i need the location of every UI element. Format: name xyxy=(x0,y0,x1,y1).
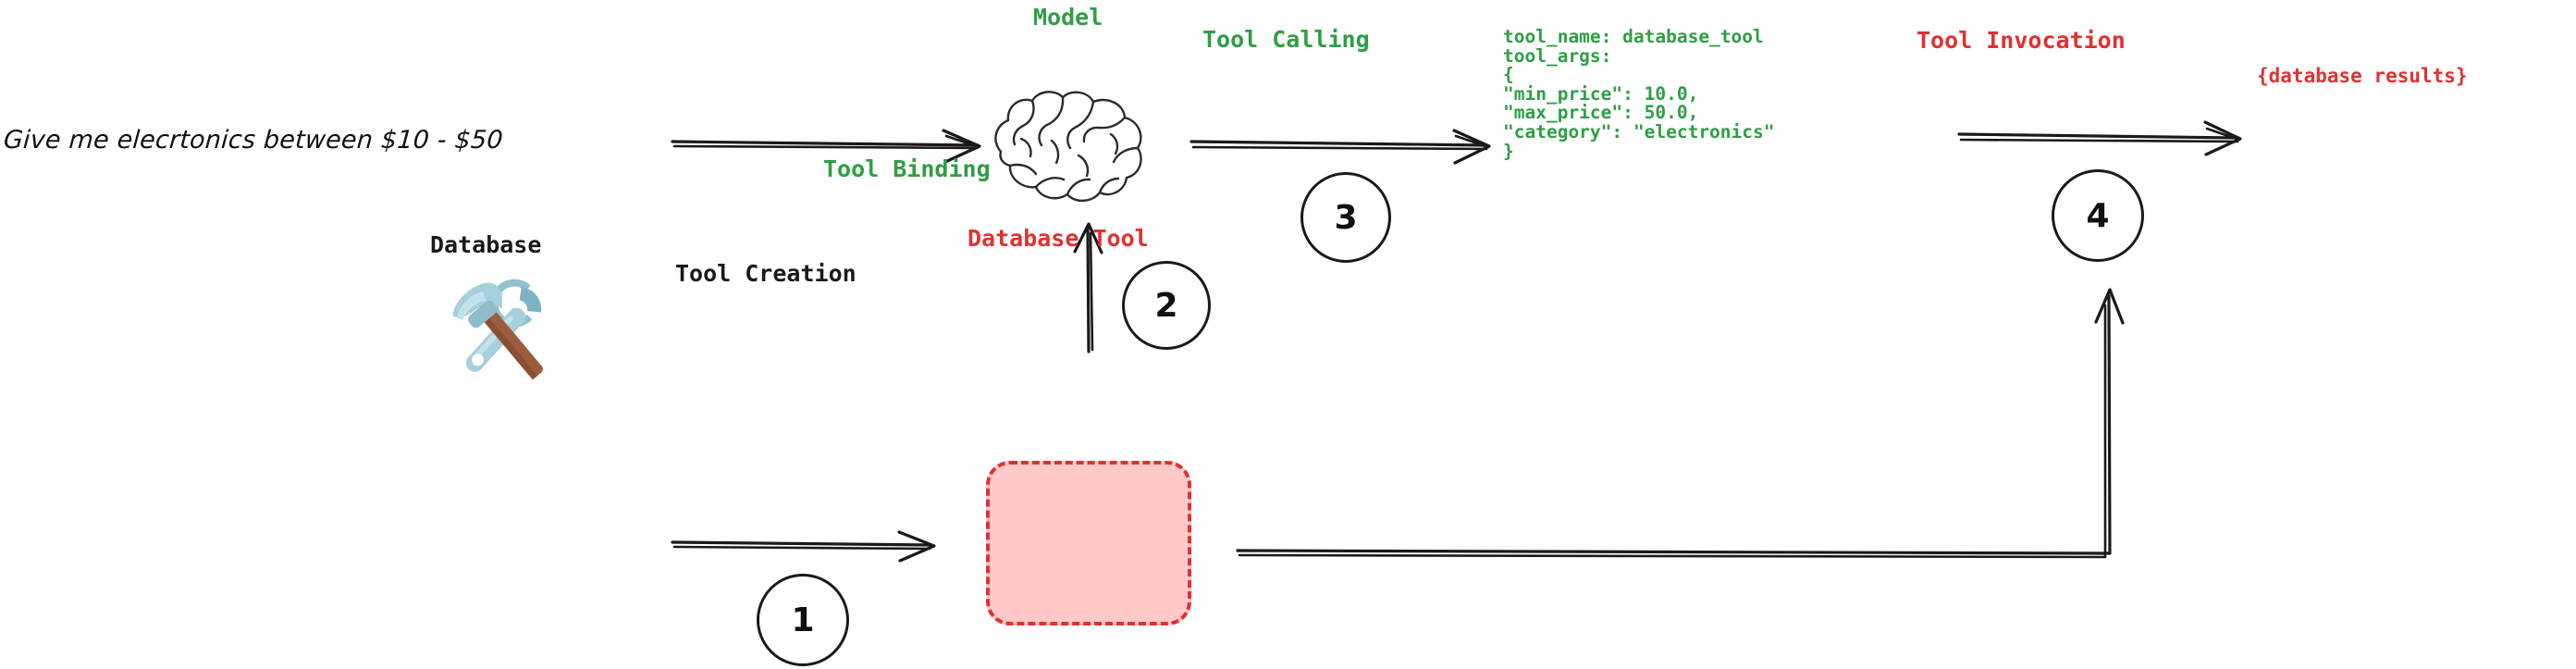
database-results-label: {database results} xyxy=(2257,67,2468,86)
user-query-text: Give me elecrtonics between $10 - $50 xyxy=(3,128,504,153)
database-tool-label: Database Tool xyxy=(968,227,1149,250)
step-badge-2: 2 xyxy=(1122,261,1211,350)
database-label: Database xyxy=(430,233,541,256)
tool-calling-label: Tool Calling xyxy=(1202,28,1370,51)
tool-binding-label: Tool Binding xyxy=(823,157,991,180)
diagram-connector-layer: .stroke { fill:none; stroke:#1a1a1a; str… xyxy=(0,0,2576,669)
tool-creation-label: Tool Creation xyxy=(675,262,857,285)
arrow-tool-result-return xyxy=(1238,290,2123,557)
step-badge-3: 3 xyxy=(1300,172,1391,263)
hammer-and-wrench-icon xyxy=(443,269,558,393)
arrow-tool-creation xyxy=(672,532,934,561)
step-badge-1: 1 xyxy=(757,574,849,666)
step-badge-4: 4 xyxy=(2052,169,2144,262)
tool-invocation-label: Tool Invocation xyxy=(1917,29,2126,52)
database-tool-box[interactable] xyxy=(986,461,1191,626)
arrow-tool-invocation-to-results xyxy=(1959,122,2240,155)
model-label: Model xyxy=(1033,6,1103,29)
tool-call-payload-text: tool_name: database_tool tool_args: { "m… xyxy=(1503,28,1775,161)
brain-icon xyxy=(995,92,1140,201)
arrow-model-to-tool-call xyxy=(1191,130,1489,163)
